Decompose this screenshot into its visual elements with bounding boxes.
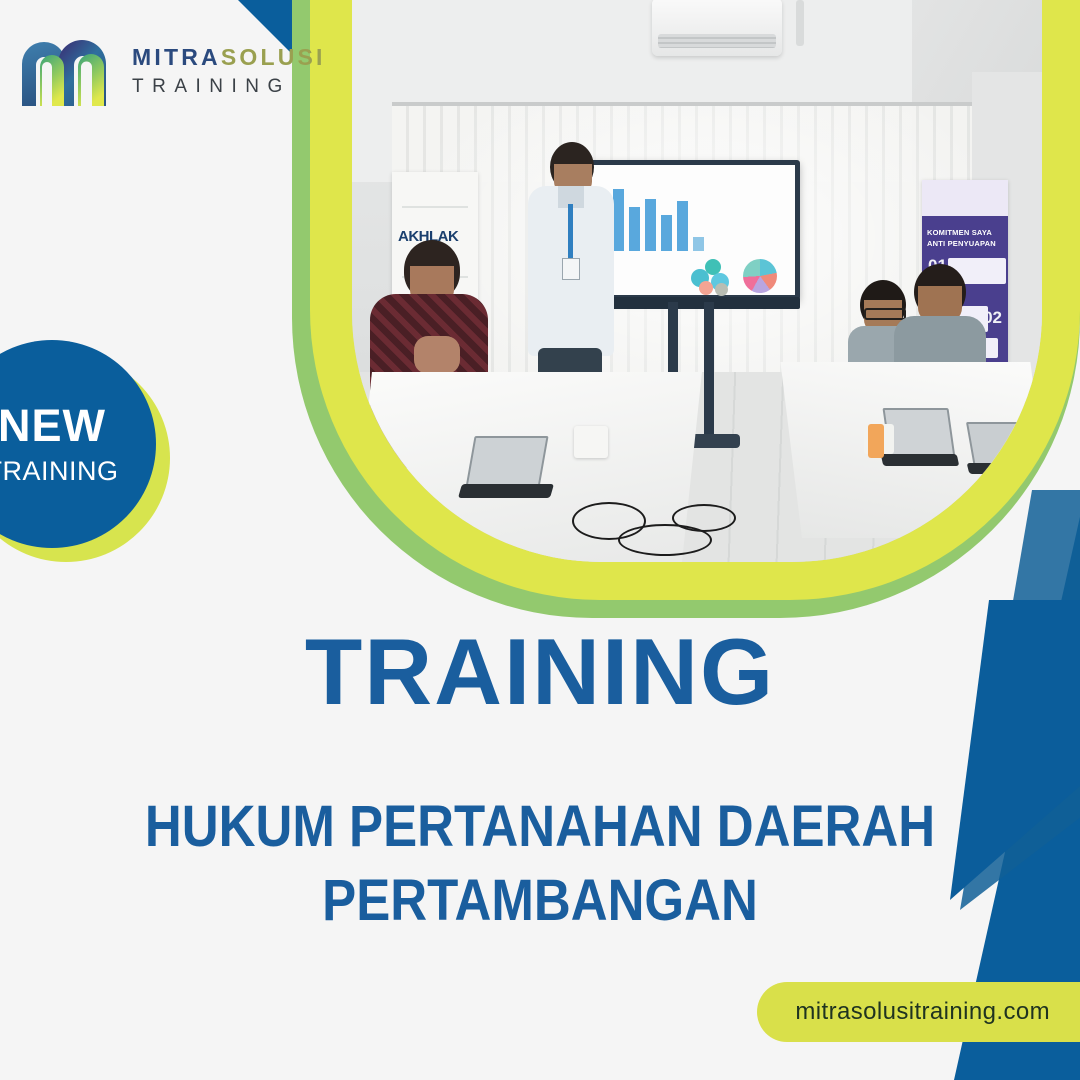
mitra-solusi-logo-mark (18, 34, 122, 108)
classroom-scene: AKHLAK Core Values KOMITMEN SAYA ANTI PE… (352, 0, 1042, 562)
hand-sanitizer-bottle (868, 424, 884, 458)
logo-line-2: TRAINING (132, 77, 326, 96)
new-training-badge[interactable]: NEW TRAINING (0, 340, 208, 560)
laptop-left (460, 436, 548, 498)
poster-line-1: KOMITMEN SAYA (927, 228, 992, 237)
badge-label-new: NEW (0, 403, 106, 448)
website-url-text: mitrasolusitraining.com (795, 998, 1050, 1026)
poster-header (922, 180, 1008, 216)
subtitle-line-2: PERTAMBANGAN (118, 864, 963, 938)
logo-wordmark: MITRASOLUSI TRAINING (132, 46, 326, 96)
photo-frame: AKHLAK Core Values KOMITMEN SAYA ANTI PE… (292, 0, 1080, 618)
page-subtitle: HUKUM PERTANAHAN DAERAH PERTAMBANGAN (118, 790, 963, 938)
air-conditioner-icon (652, 0, 782, 56)
tissue-box-left (574, 426, 608, 458)
logo-word-solusi: SOLUSI (221, 44, 326, 70)
poster-line-2: ANTI PENYUAPAN (927, 239, 996, 248)
ac-vent (658, 34, 776, 48)
floor-cable-3 (672, 504, 736, 532)
subtitle-line-1: HUKUM PERTANAHAN DAERAH (118, 790, 963, 864)
poster-canvas: MITRASOLUSI TRAINING (0, 0, 1080, 1080)
training-photo: AKHLAK Core Values KOMITMEN SAYA ANTI PE… (352, 0, 1042, 562)
logo-line-1: MITRASOLUSI (132, 46, 326, 69)
website-pill[interactable]: mitrasolusitraining.com (757, 982, 1080, 1042)
brand-logo: MITRASOLUSI TRAINING (18, 34, 326, 108)
badge-label-training: TRAINING (0, 458, 119, 485)
tv-stand-right-pole (704, 302, 714, 442)
logo-word-mitra: MITRA (132, 44, 221, 70)
laptop-right-2 (968, 422, 1034, 474)
page-title: TRAINING (0, 618, 1080, 726)
ac-pipe (796, 0, 804, 46)
